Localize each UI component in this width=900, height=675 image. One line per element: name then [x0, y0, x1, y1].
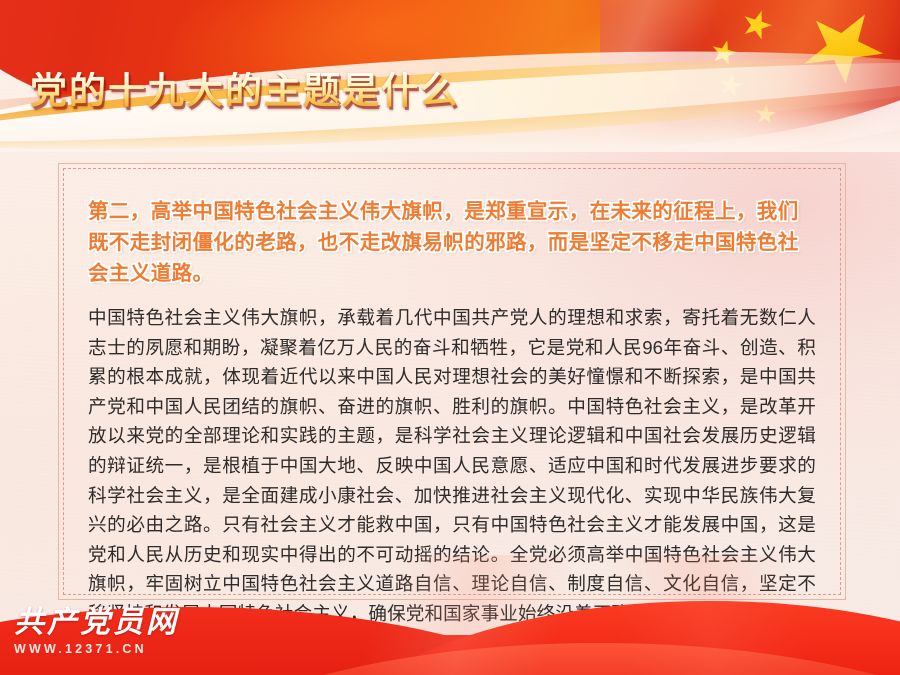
logo-url: WWW.12371.CN [14, 643, 224, 656]
footer-waves: 共产党员网 WWW.12371.CN [0, 555, 900, 675]
lead-paragraph: 第二，高举中国特色社会主义伟大旗帜，是郑重宣示，在未来的征程上，我们既不走封闭僵… [88, 196, 816, 289]
page-title: 党的十九大的主题是什么 [30, 72, 459, 109]
banner-bottom-fade [0, 106, 900, 152]
logo-wordmark: 共产党员网 [14, 608, 224, 638]
poster-canvas: 党的十九大的主题是什么 第二，高举中国特色社会主义伟大旗帜，是郑重宣示，在未来的… [0, 0, 900, 675]
site-logo[interactable]: 共产党员网 WWW.12371.CN [14, 608, 224, 656]
